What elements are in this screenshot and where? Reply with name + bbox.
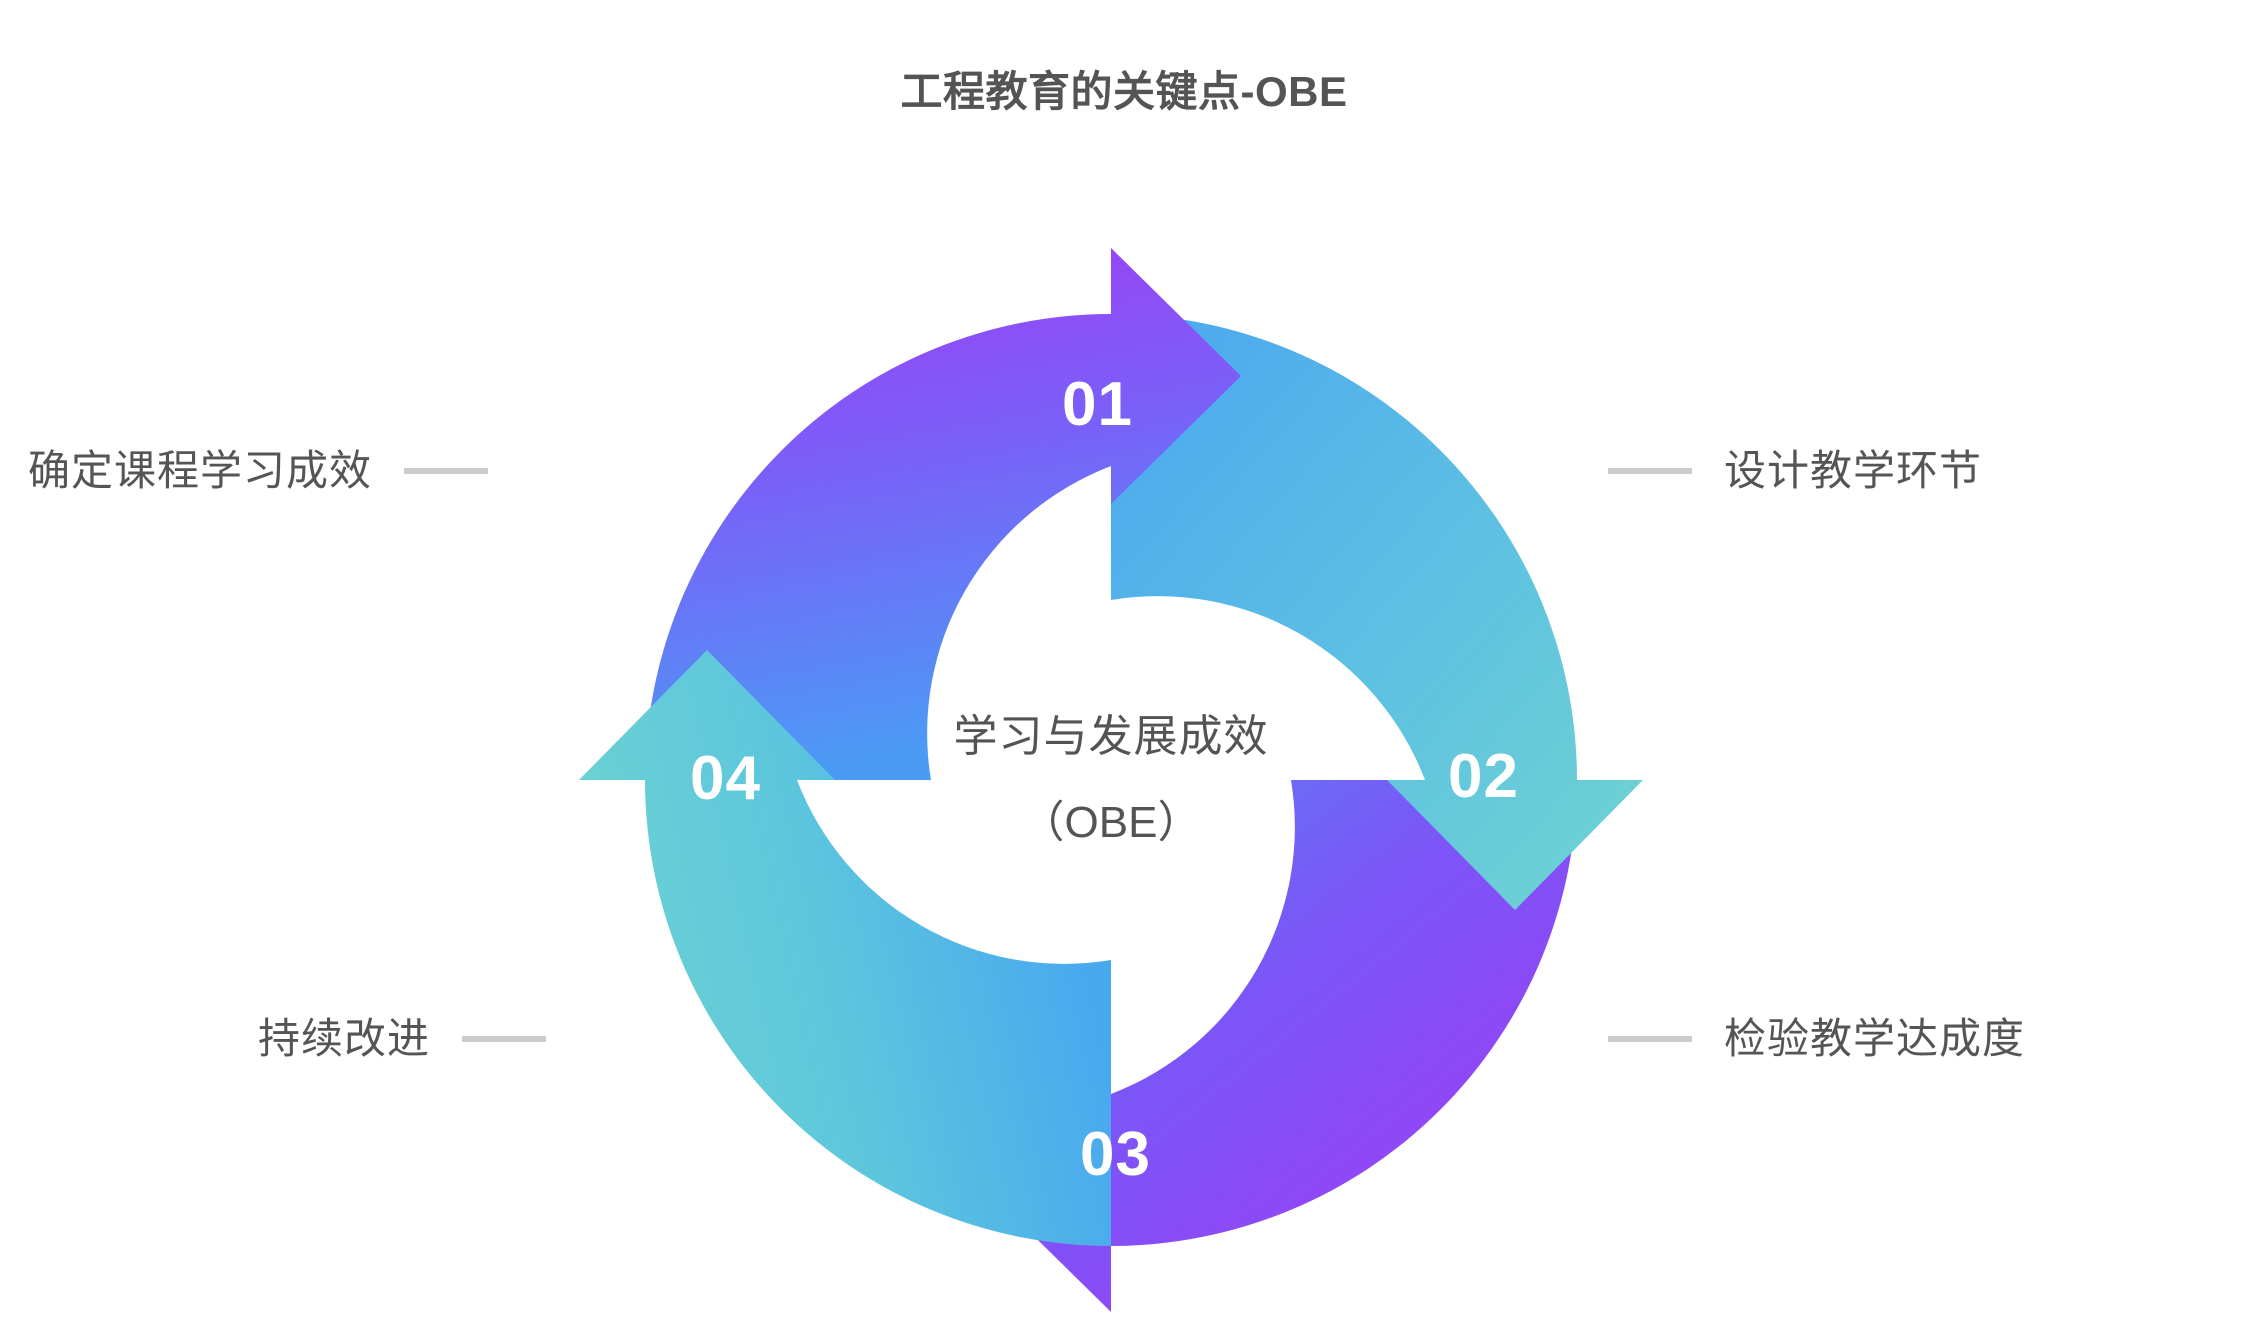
center-label-main: 学习与发展成效: [826, 714, 1396, 760]
callout-connector-line-2: [1608, 468, 1692, 474]
center-label: 学习与发展成效 （OBE）: [826, 714, 1396, 846]
callout-connector-line-3: [1608, 1036, 1692, 1042]
callout-label-2: 设计教学环节: [1724, 450, 1982, 492]
callout-label-4: 持续改进: [258, 1018, 430, 1060]
obe-cycle-diagram: 01 02 03 04 学习与发展成效 （OBE） 确定课程学习成效 设计教学环…: [0, 0, 2248, 1330]
step-number-01: 01: [1062, 374, 1133, 436]
callout-verify-attainment[interactable]: 检验教学达成度: [1608, 1018, 2025, 1060]
callout-design-teaching-activities[interactable]: 设计教学环节: [1608, 450, 1982, 492]
callout-continuous-improvement[interactable]: 持续改进: [258, 1018, 546, 1060]
callout-label-3: 检验教学达成度: [1724, 1018, 2025, 1060]
callout-connector-line-4: [462, 1036, 546, 1042]
callout-determine-learning-outcomes[interactable]: 确定课程学习成效: [28, 450, 488, 492]
step-number-04: 04: [690, 748, 761, 810]
center-label-sub: （OBE）: [826, 800, 1396, 846]
callout-label-1: 确定课程学习成效: [28, 450, 372, 492]
step-number-02: 02: [1448, 746, 1519, 808]
callout-connector-line-1: [404, 468, 488, 474]
step-number-03: 03: [1080, 1124, 1151, 1186]
